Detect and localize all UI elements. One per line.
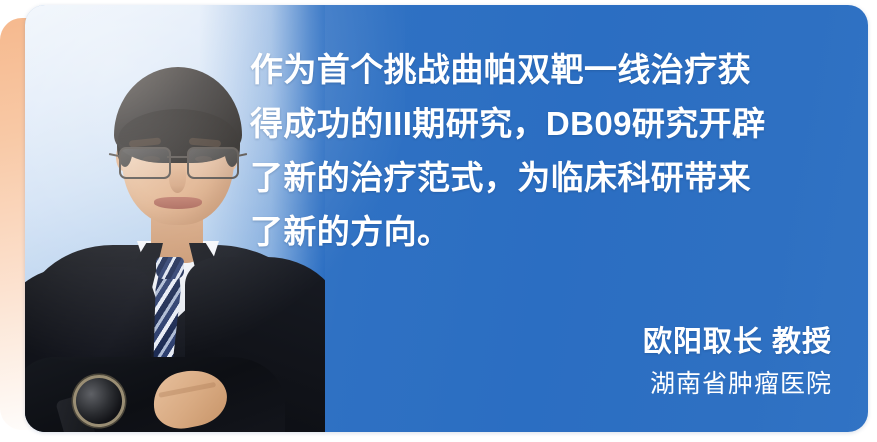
quote-line-4: 了新的方向。 [250, 205, 850, 259]
mouth [154, 197, 202, 209]
speaker-affiliation: 湖南省肿瘤医院 [643, 364, 832, 404]
quote-line-2: 得成功的III期研究，DB09研究开辟 [250, 97, 850, 151]
attribution-block: 欧阳取长 教授 湖南省肿瘤医院 [643, 322, 832, 404]
quote-line-3: 了新的治疗范式，为临床科研带来 [250, 151, 850, 205]
lens-right [187, 147, 239, 179]
glasses-temple-right [237, 153, 247, 157]
eyeglasses-icon [117, 145, 239, 179]
quote-text: 作为首个挑战曲帕双靶一线治疗获 得成功的III期研究，DB09研究开辟 了新的治… [250, 43, 850, 259]
speaker-quote-card: 作为首个挑战曲帕双靶一线治疗获 得成功的III期研究，DB09研究开辟 了新的治… [25, 5, 868, 432]
necktie-knot [156, 257, 184, 279]
quote-card-stage: 作为首个挑战曲帕双靶一线治疗获 得成功的III期研究，DB09研究开辟 了新的治… [0, 0, 877, 442]
glasses-temple-left [109, 153, 119, 157]
glasses-bridge [167, 156, 187, 158]
lens-left [119, 147, 171, 179]
speaker-name: 欧阳取长 教授 [643, 322, 832, 362]
quote-line-1: 作为首个挑战曲帕双靶一线治疗获 [250, 43, 850, 97]
